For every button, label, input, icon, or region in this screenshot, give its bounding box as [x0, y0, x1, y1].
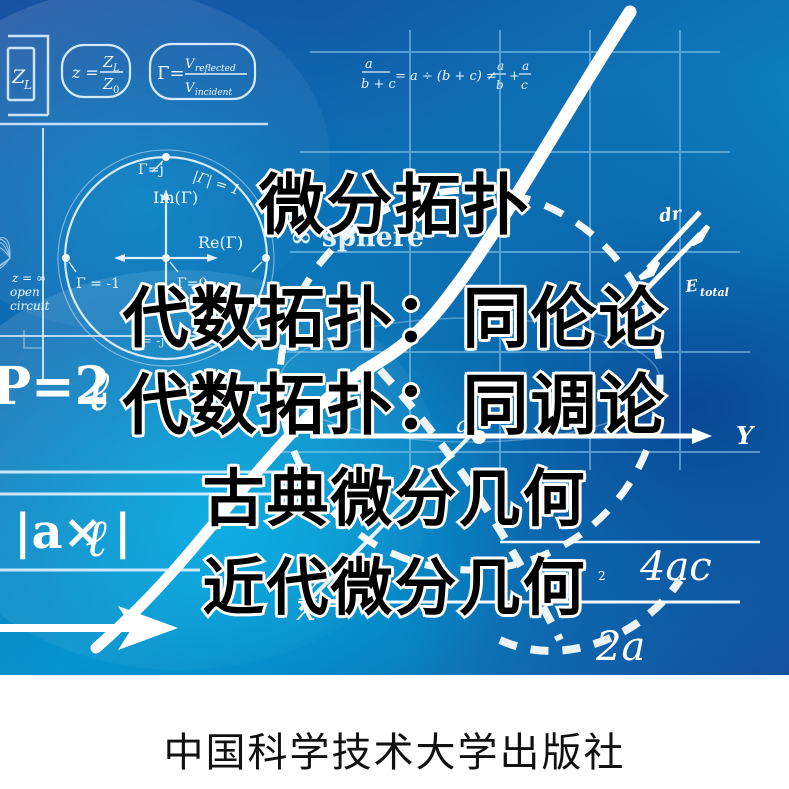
- label-re-gamma: Re(Γ): [198, 233, 243, 252]
- svg-text:b + c: b + c: [361, 77, 396, 92]
- label-open-circuit-z: z = ∞: [11, 271, 46, 285]
- label-gamma-neg-one: Γ = -1: [76, 276, 120, 292]
- svg-text:2a: 2a: [595, 624, 645, 670]
- artwork-illustration: Z L z = Z L Z 0 Γ= V reflected V inciden…: [0, 0, 789, 675]
- svg-text:z =: z =: [71, 63, 99, 82]
- cover-artwork: Z L z = Z L Z 0 Γ= V reflected V inciden…: [0, 0, 789, 675]
- svg-text:|: |: [114, 504, 131, 560]
- svg-text:incident: incident: [195, 88, 232, 98]
- svg-text:ℓ: ℓ: [86, 508, 108, 569]
- svg-text:reflected: reflected: [195, 64, 236, 74]
- label-axis-y: Y: [736, 421, 756, 450]
- publisher-area: 中国科学技术大学出版社: [0, 675, 789, 789]
- axis-origin-point: [472, 430, 486, 444]
- label-infinity-sphere: ∞ sphere: [290, 222, 424, 253]
- svg-text:x: x: [296, 588, 316, 629]
- formula-perimeter: P=2 ℓ: [0, 356, 111, 424]
- label-gamma-zero: Γ=0: [177, 276, 207, 292]
- svg-text:a: a: [522, 59, 529, 73]
- label-vector-dr: dr: [658, 203, 684, 227]
- svg-text:0: 0: [113, 85, 119, 96]
- svg-text:Γ=: Γ=: [157, 63, 185, 84]
- label-vector-etotal: E: [683, 276, 699, 296]
- label-open-circuit-1: open: [10, 285, 40, 299]
- dashed-curve-bottom: [500, 580, 680, 651]
- formula-fraction-identity: a b + c = a ÷ (b + c) ≠ a b + a c: [361, 57, 531, 92]
- svg-text:2: 2: [598, 569, 606, 583]
- svg-text:ℓ: ℓ: [86, 359, 110, 424]
- svg-text:=: =: [326, 586, 349, 619]
- label-impedance-box-sub: L: [23, 78, 32, 92]
- svg-text:c: c: [521, 78, 528, 92]
- publisher-name: 中国科学技术大学出版社: [0, 720, 789, 778]
- label-gamma-j: Γ=j: [138, 162, 164, 178]
- formula-cross-product: |a× ℓ |: [14, 504, 131, 569]
- svg-text:a: a: [365, 57, 373, 72]
- book-cover: Z L z = Z L Z 0 Γ= V reflected V inciden…: [0, 0, 789, 789]
- label-point-q: q: [455, 413, 469, 438]
- label-im-gamma: Im(Γ): [153, 188, 198, 207]
- label-vector-etotal-sub: total: [700, 286, 729, 299]
- svg-text:+: +: [509, 69, 520, 84]
